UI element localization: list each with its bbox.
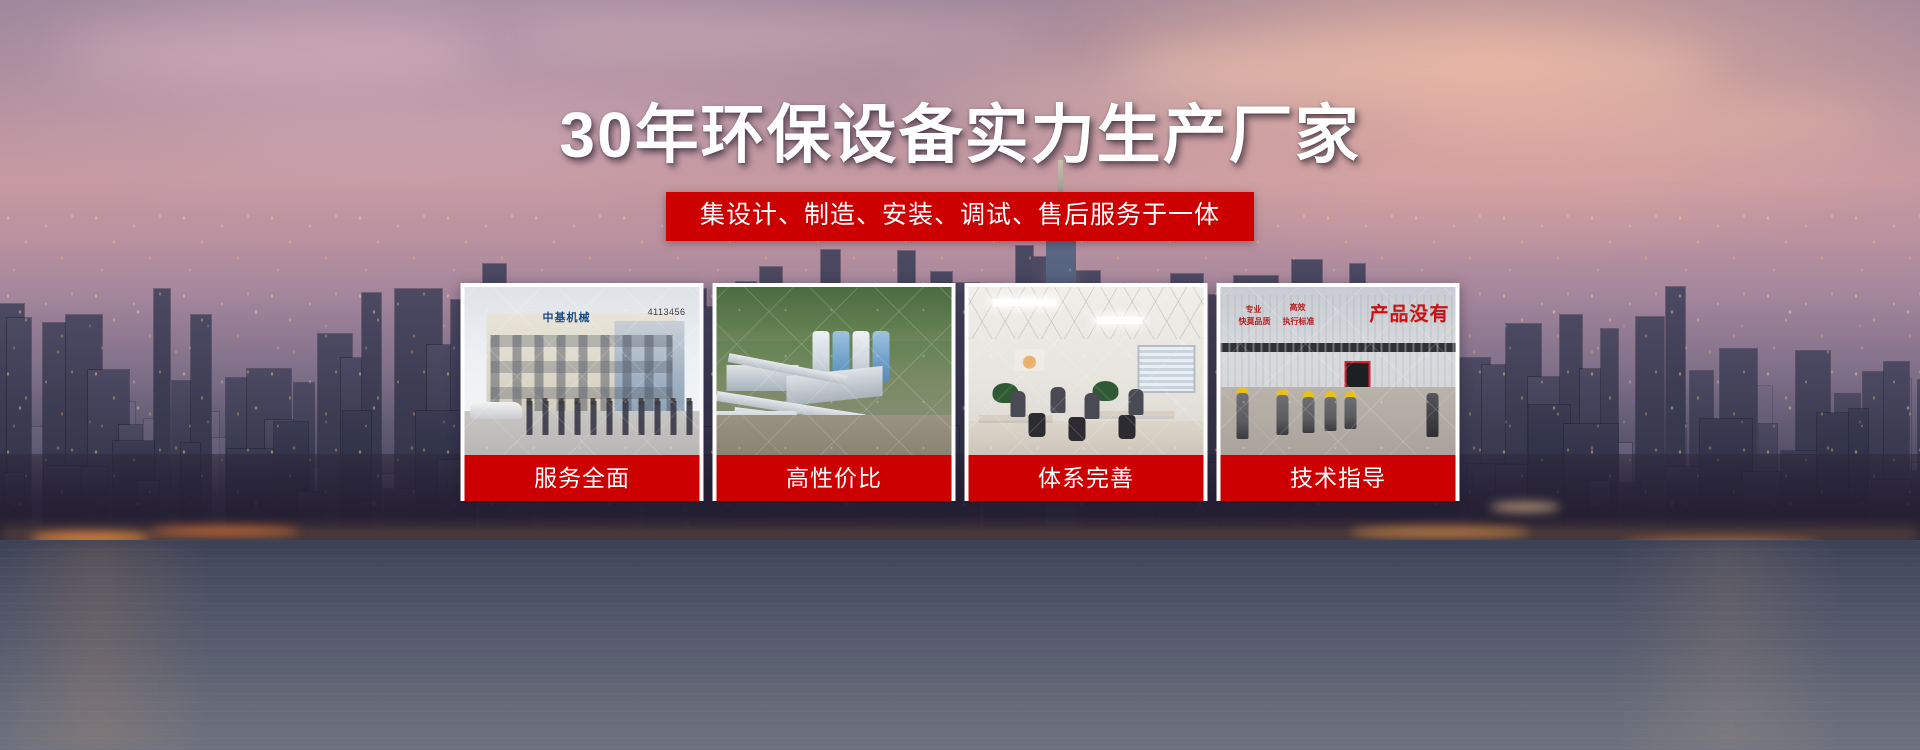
photo-helmet — [1325, 391, 1337, 397]
photo-chair — [1119, 415, 1136, 439]
card-photo-office-building: 中基机械 4113456 — [465, 287, 700, 455]
photo-wall-vent — [1221, 343, 1456, 352]
feature-card[interactable]: 体系完善 — [965, 283, 1208, 501]
photo-staff-row — [527, 401, 695, 435]
photo-floor — [969, 421, 1204, 455]
photo-wall-decal — [1015, 349, 1045, 371]
feature-card[interactable]: 产品没有 专业 快莫品质 高效 执行标准 — [1217, 283, 1460, 501]
photo-person — [1011, 391, 1026, 417]
feature-card-list: 中基机械 4113456 服务全面 — [461, 283, 1460, 501]
factory-slogan-text: 快莫品质 — [1235, 317, 1275, 327]
photo-car — [471, 402, 523, 419]
photo-person — [1129, 389, 1144, 415]
subtitle-badge: 集设计、制造、安装、调试、售后服务于一体 — [666, 192, 1254, 241]
photo-ceiling-light — [993, 299, 1057, 306]
feature-card[interactable]: 高性价比 — [713, 283, 956, 501]
factory-slogan-text: 执行标准 — [1277, 317, 1321, 327]
photo-worker — [1427, 393, 1439, 437]
card-caption: 高性价比 — [717, 455, 952, 501]
hero-banner: 30年环保设备实力生产厂家 集设计、制造、安装、调试、售后服务于一体 中基机械 … — [0, 0, 1920, 750]
photo-window — [1138, 345, 1196, 393]
photo-person — [1085, 393, 1100, 419]
photo-yard — [1221, 387, 1456, 455]
card-photo-office-interior — [969, 287, 1204, 455]
photo-helmet — [1345, 391, 1357, 397]
photo-helmet — [1237, 387, 1249, 393]
photo-worker — [1237, 393, 1249, 439]
feature-card[interactable]: 中基机械 4113456 服务全面 — [461, 283, 704, 501]
photo-person — [1051, 387, 1066, 413]
card-photo-factory-workers: 产品没有 专业 快莫品质 高效 执行标准 — [1221, 287, 1456, 455]
photo-worker — [1277, 395, 1289, 435]
photo-chair — [1029, 413, 1046, 437]
factory-slogan-text: 专业 — [1239, 305, 1269, 315]
page-title: 30年环保设备实力生产厂家 — [0, 103, 1920, 167]
card-photo-plant-aerial — [717, 287, 952, 455]
photo-road — [717, 415, 952, 455]
photo-worker — [1345, 397, 1357, 429]
photo-worker — [1303, 397, 1315, 433]
photo-ceiling-light — [1097, 317, 1143, 324]
building-phone-text: 4113456 — [648, 307, 686, 317]
card-caption: 服务全面 — [465, 455, 700, 501]
building-sign-text: 中基机械 — [543, 309, 591, 322]
photo-helmet — [1303, 391, 1315, 397]
banner-content: 30年环保设备实力生产厂家 集设计、制造、安装、调试、售后服务于一体 中基机械 … — [0, 0, 1920, 750]
card-caption: 技术指导 — [1221, 455, 1456, 501]
factory-banner-text: 产品没有 — [1369, 299, 1449, 326]
photo-helmet — [1277, 389, 1289, 395]
photo-ceiling — [969, 287, 1204, 339]
photo-worker — [1325, 397, 1337, 431]
card-caption: 体系完善 — [969, 455, 1204, 501]
factory-slogan-text: 高效 — [1283, 303, 1313, 313]
photo-chair — [1069, 417, 1086, 441]
